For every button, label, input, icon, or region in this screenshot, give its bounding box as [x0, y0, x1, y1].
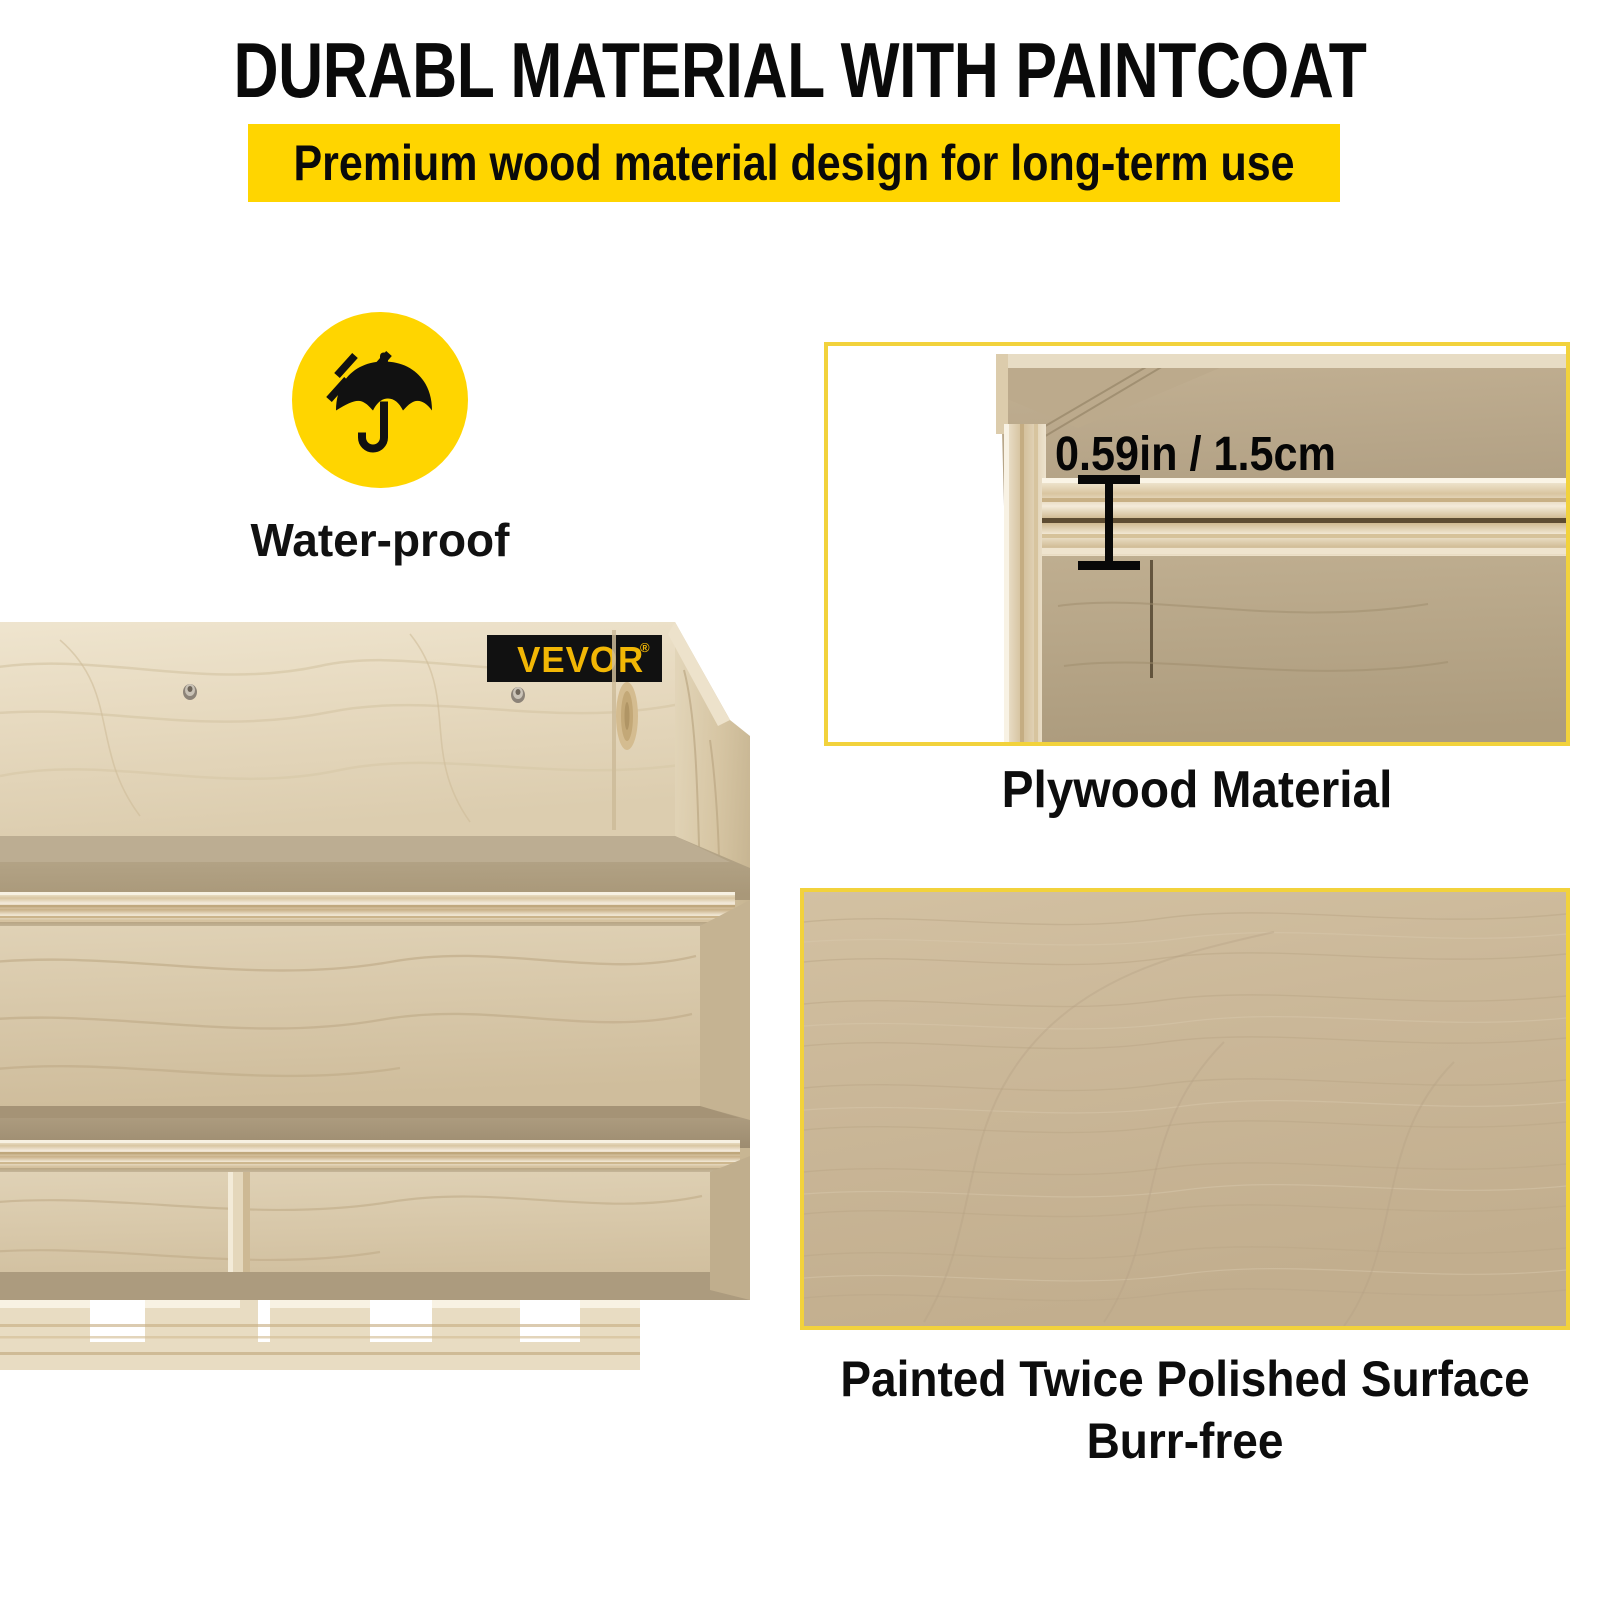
svg-text:VEVOR: VEVOR	[517, 640, 644, 681]
thickness-dimension-label: 0.59in / 1.5cm	[1055, 428, 1336, 482]
polished-surface-photo	[804, 892, 1566, 1326]
wood-knot	[616, 682, 638, 750]
mounting-screw	[183, 684, 197, 700]
subtitle-text: Premium wood material design for long-te…	[293, 136, 1294, 190]
waterproof-label: Water-proof	[245, 514, 515, 566]
waterproof-feature: Water-proof	[245, 312, 515, 566]
plywood-corner-photo	[828, 346, 1566, 742]
mounting-screw	[511, 687, 525, 703]
surface-caption: Painted Twice Polished Surface Burr-free	[790, 1348, 1580, 1472]
page-title: DURABL MATERIAL WITH PAINTCOAT	[160, 26, 1440, 114]
dimension-marker	[1076, 473, 1142, 573]
plywood-detail-panel	[824, 342, 1570, 746]
svg-text:®: ®	[640, 640, 650, 655]
surface-detail-panel	[800, 888, 1570, 1330]
umbrella-rain-icon	[325, 348, 435, 453]
subtitle-banner: Premium wood material design for long-te…	[248, 124, 1340, 202]
product-photo-tool-organizer: VEVOR ®	[0, 600, 800, 1390]
plywood-caption: Plywood Material	[824, 760, 1570, 820]
vevor-logo: VEVOR ®	[487, 635, 662, 682]
tool-slot-tabs	[0, 1300, 640, 1370]
waterproof-badge-circle	[292, 312, 468, 488]
